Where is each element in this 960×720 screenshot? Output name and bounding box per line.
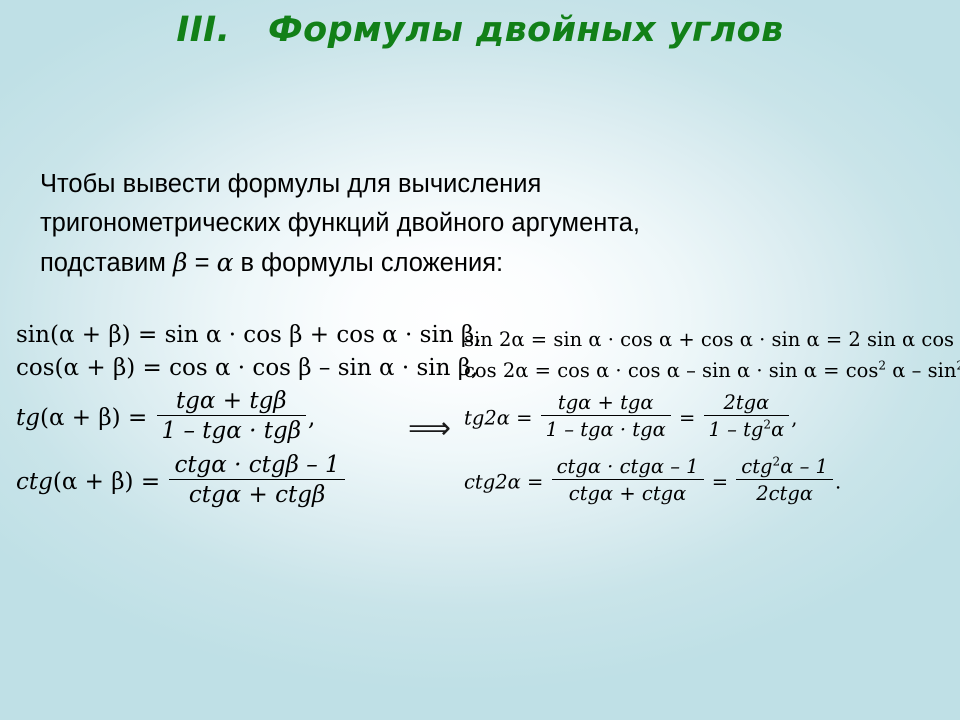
ctg-addition-lhs-arg: (α + β) bbox=[53, 469, 134, 495]
sin-double-lhs: sin 2α bbox=[464, 328, 525, 351]
addition-formulas-column: sin(α + β) = sin α · cos β + cos α · sin… bbox=[16, 322, 416, 515]
cos-addition-equals: = bbox=[143, 355, 162, 381]
tg-double-exponent: 2 bbox=[763, 418, 771, 432]
ctg-double-numerator-1: ctgα · ctgα – 1 bbox=[552, 455, 704, 479]
sin-addition-lhs-arg: (α + β) bbox=[50, 322, 131, 348]
tg-double-numerator-1: tgα + tgα bbox=[541, 391, 671, 415]
tg-double-fraction-1: tgα + tgα 1 – tgα · tgα bbox=[541, 391, 671, 441]
tg-addition-fraction: tgα + tgβ 1 – tgα · tgβ bbox=[157, 388, 306, 444]
cos-addition-lhs-arg: (α + β) bbox=[55, 355, 136, 381]
double-angle-formulas-column: sin 2α = sin α · cos α + cos α · sin α =… bbox=[464, 328, 960, 516]
intro-line-3-prefix: подставим bbox=[40, 249, 173, 277]
formula-ctg-double: ctg2α = ctgα · ctgα – 1 ctgα + ctgα = ct… bbox=[464, 458, 960, 508]
cos-double-exponent: 2 bbox=[878, 359, 886, 373]
sin-double-result: 2 sin α cos α, bbox=[848, 328, 960, 351]
tg-addition-lhs-fn: tg bbox=[16, 405, 40, 431]
tg-double-denominator-2-prefix: 1 – tg bbox=[709, 418, 764, 441]
tg-double-denominator-1: 1 – tgα · tgα bbox=[541, 415, 671, 441]
cos-addition-lhs-fn: cos bbox=[16, 355, 55, 381]
cos-addition-rhs: cos α · cos β – sin α · sin β, bbox=[169, 355, 478, 381]
ctg-addition-denominator: ctgα + ctgβ bbox=[169, 479, 344, 508]
intro-line-1: Чтобы вывести формулы для вычисления bbox=[40, 165, 760, 204]
ctg-double-denominator-2: 2ctgα bbox=[736, 479, 833, 505]
tg-double-denominator-2-suffix: α bbox=[771, 418, 784, 441]
cos-double-equals-1: = bbox=[535, 359, 551, 382]
tg-double-equals-1: = bbox=[516, 407, 532, 430]
intro-line-3-suffix: в формулы сложения: bbox=[233, 249, 503, 277]
tg-addition-trailer: , bbox=[308, 405, 315, 431]
tg-addition-equals: = bbox=[128, 405, 147, 431]
intro-line-2: тригонометрических функций двойного аргу… bbox=[40, 204, 760, 243]
tg-double-equals-2: = bbox=[679, 407, 695, 430]
tg-addition-numerator: tgα + tgβ bbox=[157, 388, 306, 415]
ctg-double-lhs: ctg2α bbox=[464, 471, 521, 494]
ctg-addition-equals: = bbox=[141, 469, 160, 495]
cos-double-result-cos: cos bbox=[846, 359, 879, 382]
sin-double-exponent: 2 bbox=[956, 359, 960, 373]
alpha-symbol: α bbox=[217, 248, 234, 277]
formula-cos-addition: cos(α + β) = cos α · cos β – sin α · sin… bbox=[16, 355, 416, 381]
formula-sin-double: sin 2α = sin α · cos α + cos α · sin α =… bbox=[464, 328, 960, 351]
ctg-double-numerator-2-prefix: ctg bbox=[741, 455, 772, 478]
ctg-double-numerator-2: ctg2α – 1 bbox=[736, 455, 833, 479]
formula-tg-addition: tg(α + β) = tgα + tgβ 1 – tgα · tgβ , bbox=[16, 391, 416, 447]
ctg-double-trailer: . bbox=[835, 471, 841, 494]
cos-double-middle: cos α · cos α – sin α · sin α bbox=[557, 359, 817, 382]
tg-addition-lhs-arg: (α + β) bbox=[40, 405, 121, 431]
formula-sin-addition: sin(α + β) = sin α · cos β + cos α · sin… bbox=[16, 322, 416, 348]
ctg-double-fraction-1: ctgα · ctgα – 1 ctgα + ctgα bbox=[552, 455, 704, 505]
tg-double-fraction-2: 2tgα 1 – tg2α bbox=[704, 391, 790, 441]
cos-double-equals-2: = bbox=[823, 359, 839, 382]
ctg-double-denominator-1: ctgα + ctgα bbox=[552, 479, 704, 505]
ctg-addition-fraction: ctgα · ctgβ – 1 ctgα + ctgβ bbox=[169, 452, 344, 508]
sin-double-equals-2: = bbox=[826, 328, 842, 351]
formula-ctg-addition: ctg(α + β) = ctgα · ctgβ – 1 ctgα + ctgβ bbox=[16, 455, 416, 511]
ctg-double-equals-1: = bbox=[527, 471, 543, 494]
formula-cos-double: cos 2α = cos α · cos α – sin α · sin α =… bbox=[464, 359, 960, 382]
cos-double-result-cos-arg: α – bbox=[886, 359, 928, 382]
tg-double-trailer: , bbox=[791, 407, 797, 430]
ctg-double-equals-2: = bbox=[712, 471, 728, 494]
implication-arrow-icon: ⟹ bbox=[408, 414, 451, 444]
tg-double-denominator-2: 1 – tg2α bbox=[704, 415, 790, 441]
slide-canvas: III. Формулы двойных углов Чтобы вывести… bbox=[0, 0, 960, 720]
sin-double-middle: sin α · cos α + cos α · sin α bbox=[553, 328, 819, 351]
slide-title: III. Формулы двойных углов bbox=[0, 10, 960, 50]
ctg-double-numerator-2-suffix: α – 1 bbox=[780, 455, 828, 478]
sin-addition-lhs-fn: sin bbox=[16, 322, 50, 348]
sin-double-equals-1: = bbox=[531, 328, 547, 351]
tg-double-lhs: tg2α bbox=[464, 407, 510, 430]
ctg-addition-numerator: ctgα · ctgβ – 1 bbox=[169, 452, 344, 479]
tg-double-numerator-2: 2tgα bbox=[704, 391, 790, 415]
tg-addition-denominator: 1 – tgα · tgβ bbox=[157, 415, 306, 444]
intro-paragraph: Чтобы вывести формулы для вычисления три… bbox=[40, 165, 760, 283]
intro-line-3: подставим β = α в формулы сложения: bbox=[40, 243, 760, 283]
beta-symbol: β bbox=[173, 248, 187, 277]
sin-addition-rhs: sin α · cos β + cos α · sin β, bbox=[165, 322, 482, 348]
cos-double-result-sin: sin bbox=[928, 359, 957, 382]
sin-addition-equals: = bbox=[138, 322, 157, 348]
formula-tg-double: tg2α = tgα + tgα 1 – tgα · tgα = 2tgα 1 … bbox=[464, 394, 960, 444]
equals-symbol: = bbox=[188, 249, 217, 277]
cos-double-lhs: cos 2α bbox=[464, 359, 528, 382]
ctg-addition-lhs-fn: ctg bbox=[16, 469, 53, 495]
ctg-double-fraction-2: ctg2α – 1 2ctgα bbox=[736, 455, 833, 505]
